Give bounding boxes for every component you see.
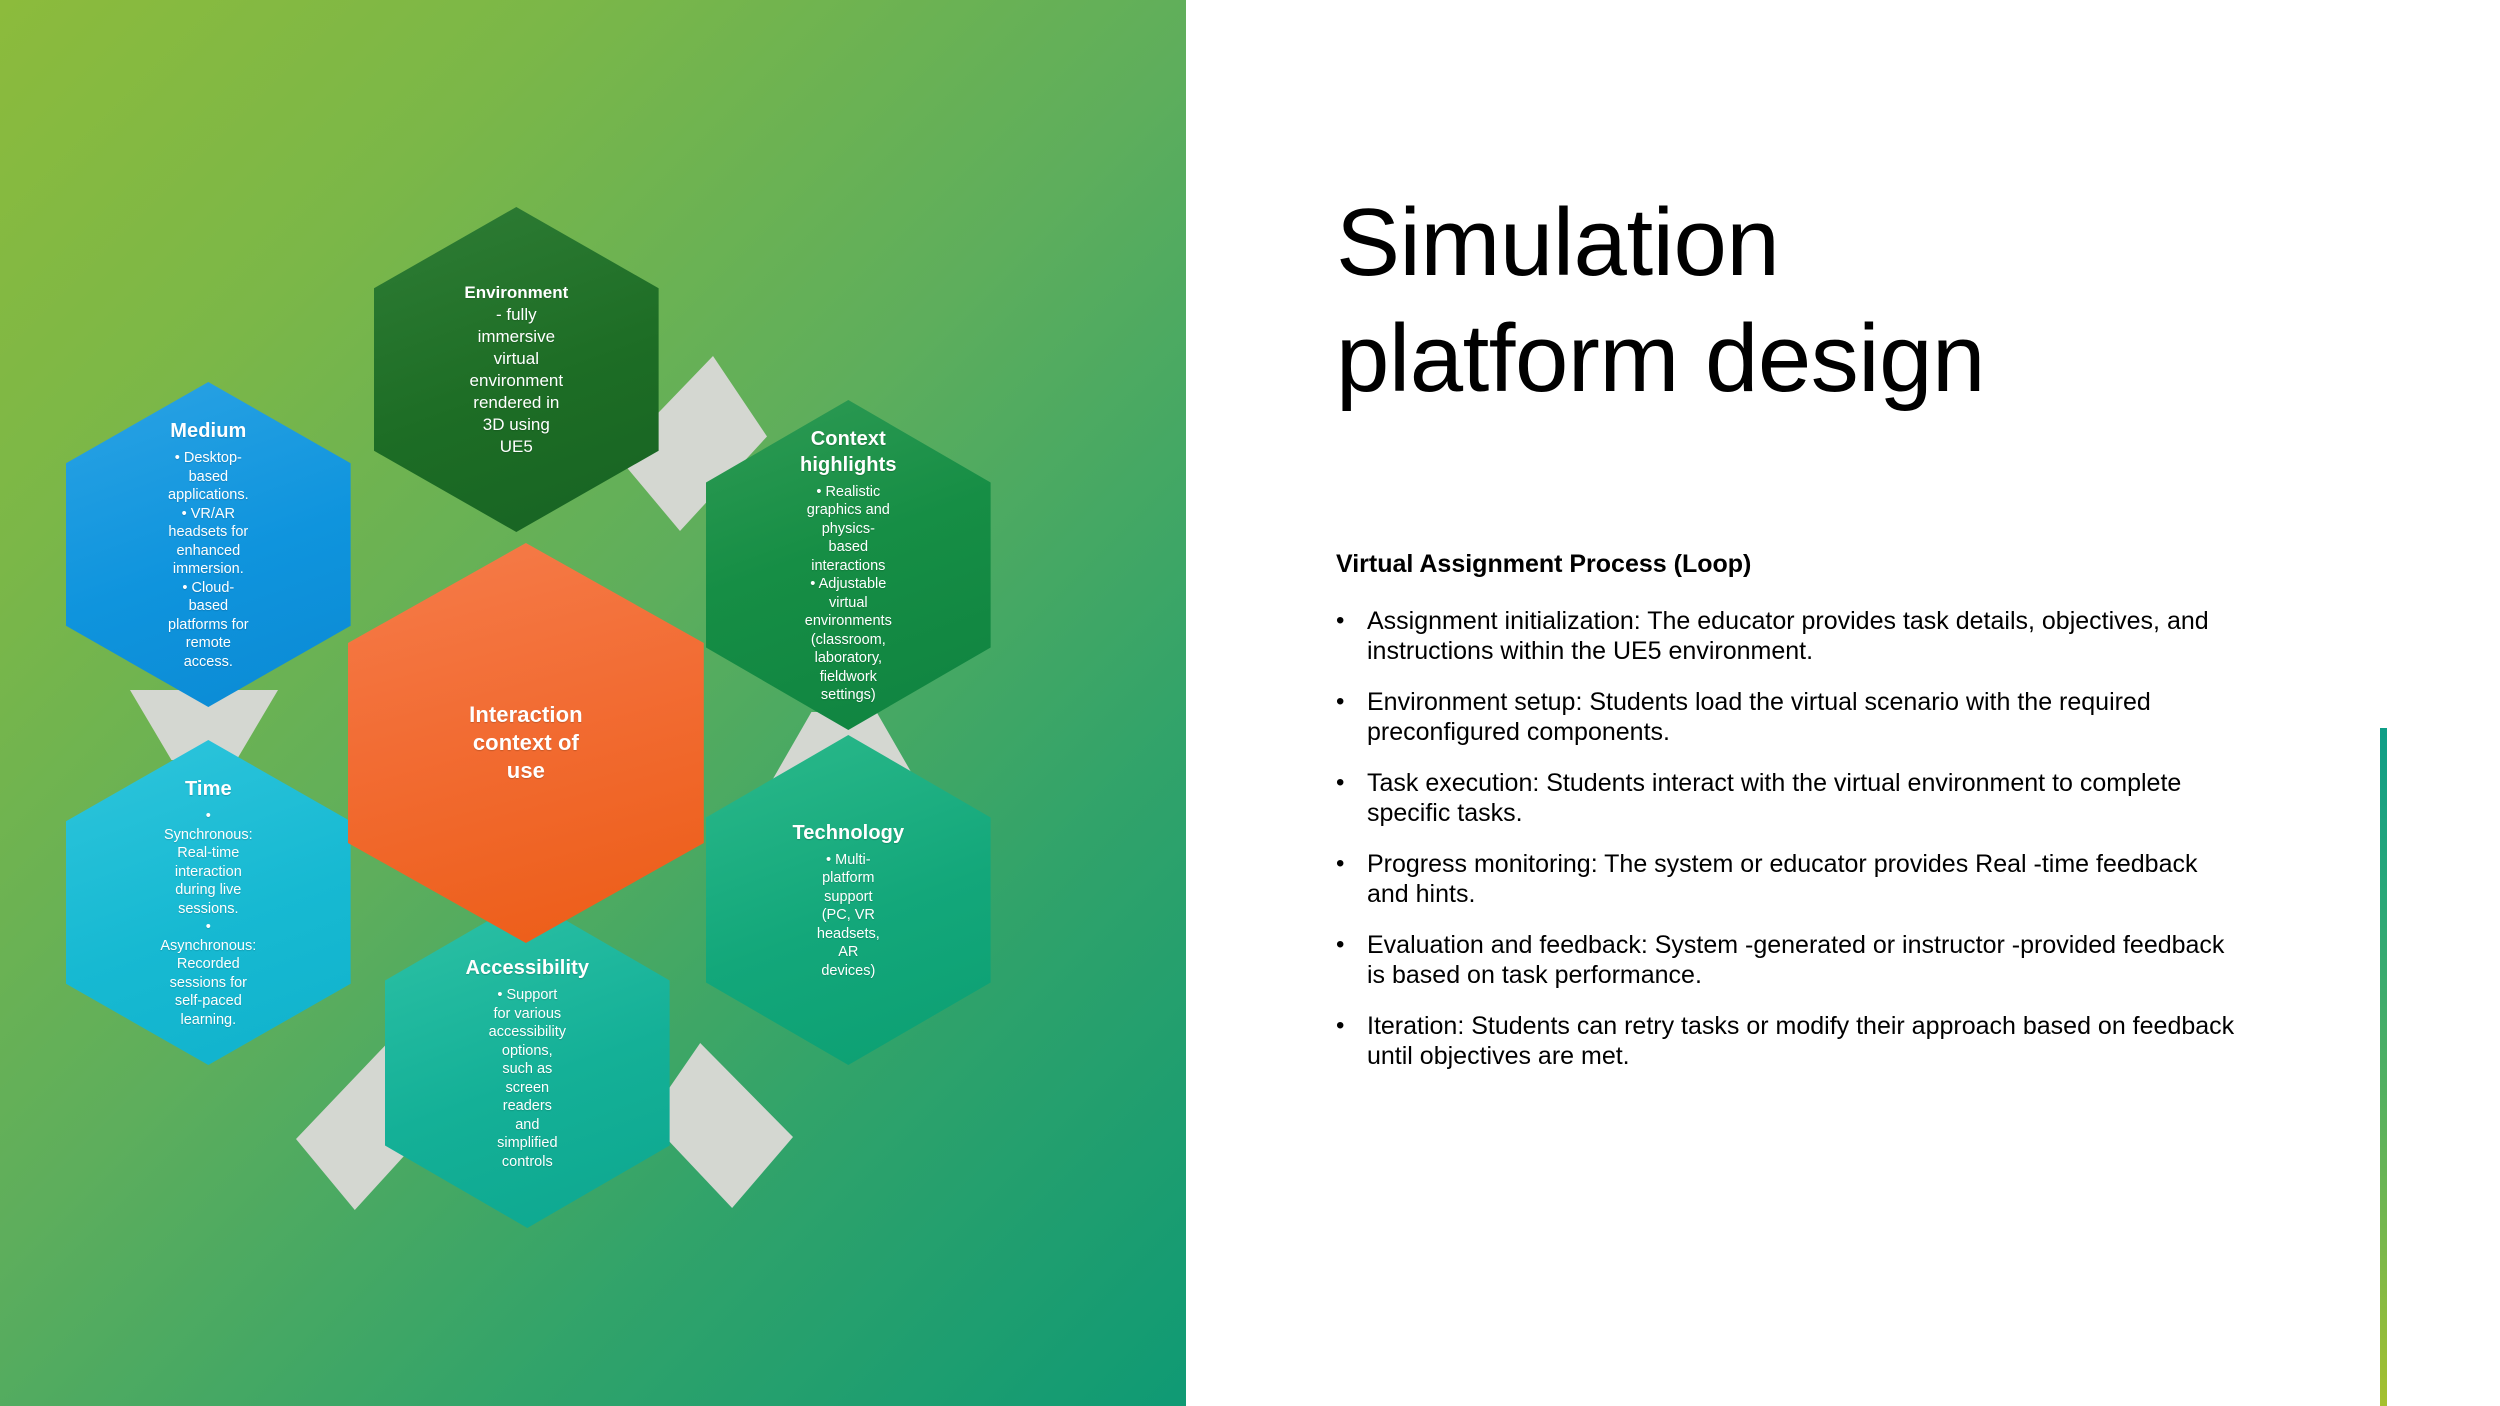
list-item: • Evaluation and feedback: System -gener… xyxy=(1336,930,2236,990)
right-content-pane: Simulation platform design Virtual Assig… xyxy=(1186,0,2500,1406)
hex-node-context-highlights-title: Context highlights xyxy=(800,426,897,478)
body-heading: Virtual Assignment Process (Loop) xyxy=(1336,549,2236,579)
bullet-marker-icon: • xyxy=(1336,1011,1367,1041)
bullet-marker-icon: • xyxy=(1336,849,1367,879)
hex-node-technology[interactable]: Technology • Multi-platform support (PC,… xyxy=(706,735,991,1065)
hex-node-medium-title: Medium xyxy=(170,418,246,444)
hex-node-accessibility-body: • Support for various accessibility opti… xyxy=(489,986,566,1171)
hex-node-medium-body: • Desktop-based applications. • VR/AR he… xyxy=(168,449,249,671)
list-item-text: Evaluation and feedback: System -generat… xyxy=(1367,930,2236,990)
page-title-line-1: Simulation xyxy=(1336,185,2336,301)
list-item: • Assignment initialization: The educato… xyxy=(1336,606,2236,666)
list-item-text: Environment setup: Students load the vir… xyxy=(1367,687,2236,747)
hex-node-center-title: Interaction context of use xyxy=(469,701,583,785)
list-item: • Support for various accessibility opti… xyxy=(489,986,566,1171)
bullet-marker-icon: • xyxy=(1336,606,1367,636)
list-item: • Asynchronous: Recorded sessions for se… xyxy=(160,918,256,1029)
bullet-marker-icon: • xyxy=(1336,687,1367,717)
list-item: • Task execution: Students interact with… xyxy=(1336,768,2236,828)
left-green-panel: Environment - fully immersive virtual en… xyxy=(0,0,1186,1406)
hex-node-time[interactable]: Time • Synchronous: Real-time interactio… xyxy=(66,740,351,1065)
list-item-text: Assignment initialization: The educator … xyxy=(1367,606,2236,666)
list-item: • Multi-platform support (PC, VR headset… xyxy=(817,851,880,981)
hex-node-medium[interactable]: Medium • Desktop-based applications. • V… xyxy=(66,382,351,707)
hex-node-time-title: Time xyxy=(185,776,232,802)
body-content: Virtual Assignment Process (Loop) • Assi… xyxy=(1336,549,2236,1092)
list-item: • Progress monitoring: The system or edu… xyxy=(1336,849,2236,909)
list-item: • Realistic graphics and physics-based i… xyxy=(805,483,892,576)
bullet-marker-icon: • xyxy=(1336,768,1367,798)
hex-node-time-body: • Synchronous: Real-time interaction dur… xyxy=(160,807,256,1029)
slide-canvas: Environment - fully immersive virtual en… xyxy=(0,0,2500,1406)
list-item: • Environment setup: Students load the v… xyxy=(1336,687,2236,747)
connector-accessibility-technology xyxy=(648,1043,793,1208)
list-item: • VR/AR headsets for enhanced immersion. xyxy=(168,505,249,579)
page-title-line-2: platform design xyxy=(1336,301,2336,417)
list-item: • Iteration: Students can retry tasks or… xyxy=(1336,1011,2236,1071)
list-item-text: Task execution: Students interact with t… xyxy=(1367,768,2236,828)
list-item: • Adjustable virtual environments (class… xyxy=(805,575,892,705)
hex-node-center-interaction-context[interactable]: Interaction context of use xyxy=(348,543,704,943)
page-title: Simulation platform design xyxy=(1336,185,2336,417)
hex-node-environment-title: Environment xyxy=(464,283,568,302)
hex-node-technology-title: Technology xyxy=(792,820,904,846)
list-item: • Cloud-based platforms for remote acces… xyxy=(168,579,249,672)
hex-node-technology-body: • Multi-platform support (PC, VR headset… xyxy=(817,851,880,981)
hex-node-accessibility[interactable]: Accessibility • Support for various acce… xyxy=(385,898,670,1228)
list-item-text: Iteration: Students can retry tasks or m… xyxy=(1367,1011,2236,1071)
list-item-text: Progress monitoring: The system or educa… xyxy=(1367,849,2236,909)
bullet-marker-icon: • xyxy=(1336,930,1367,960)
hex-node-environment-subtitle: - fully immersive virtual environment re… xyxy=(470,305,564,456)
hex-node-context-highlights-body: • Realistic graphics and physics-based i… xyxy=(805,483,892,705)
hex-node-accessibility-title: Accessibility xyxy=(466,955,590,981)
list-item: • Desktop-based applications. xyxy=(168,449,249,505)
hex-node-environment[interactable]: Environment - fully immersive virtual en… xyxy=(374,207,659,532)
accent-line-decoration xyxy=(2380,728,2387,1406)
hexagon-diagram: Environment - fully immersive virtual en… xyxy=(0,0,1186,1406)
hex-node-environment-text: Environment - fully immersive virtual en… xyxy=(464,282,568,458)
list-item: • Synchronous: Real-time interaction dur… xyxy=(160,807,256,918)
